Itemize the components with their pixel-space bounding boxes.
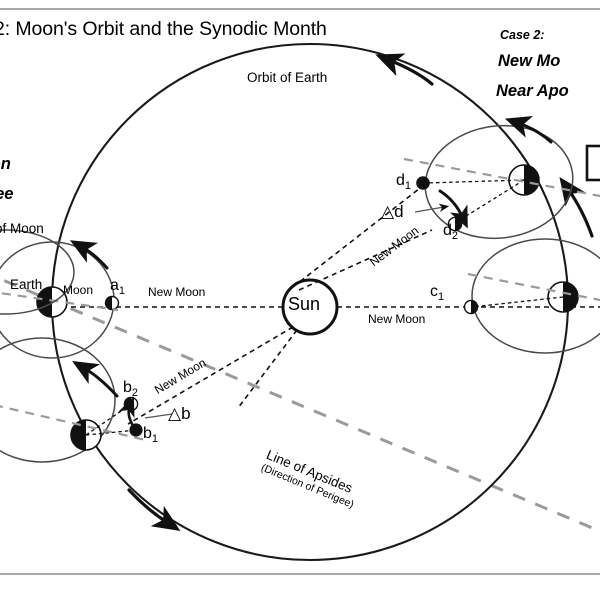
new-moon-label-c1: New Moon xyxy=(368,312,425,326)
delta-d-label: △d xyxy=(381,202,404,222)
orbit-of-moon-label: of Moon xyxy=(0,221,44,236)
case2-line2: Near Apo xyxy=(496,82,569,101)
point-label-d2: d2 xyxy=(443,222,458,242)
point-label-d1: d1 xyxy=(396,172,411,192)
moon-system-upper-right xyxy=(404,117,600,246)
moon-system-right xyxy=(465,239,600,353)
sun-label: Sun xyxy=(288,294,320,315)
figure-canvas: 2: Moon's Orbit and the Synodic Month 1:… xyxy=(0,0,600,600)
sight-line-b1 xyxy=(128,327,293,424)
orbit-of-earth-label: Orbit of Earth xyxy=(247,70,327,85)
figure-title: 2: Moon's Orbit and the Synodic Month xyxy=(0,18,327,41)
new-moon-label-a1: New Moon xyxy=(148,285,205,299)
case2-line1: New Mo xyxy=(498,52,560,71)
earth-label: Earth xyxy=(10,277,42,292)
point-label-a1: a1 xyxy=(110,277,125,297)
point-label-b1: b1 xyxy=(143,425,158,445)
point-label-b2: b2 xyxy=(123,379,138,399)
right-edge-box xyxy=(587,146,600,180)
moon-label: Moon xyxy=(63,283,93,297)
case1-line1: loon xyxy=(0,155,11,174)
point-label-c1: c1 xyxy=(430,283,444,303)
case2-tag: Case 2: xyxy=(500,28,544,42)
delta-b-label: △b xyxy=(168,404,191,424)
case1-line2: rigee xyxy=(0,185,13,204)
